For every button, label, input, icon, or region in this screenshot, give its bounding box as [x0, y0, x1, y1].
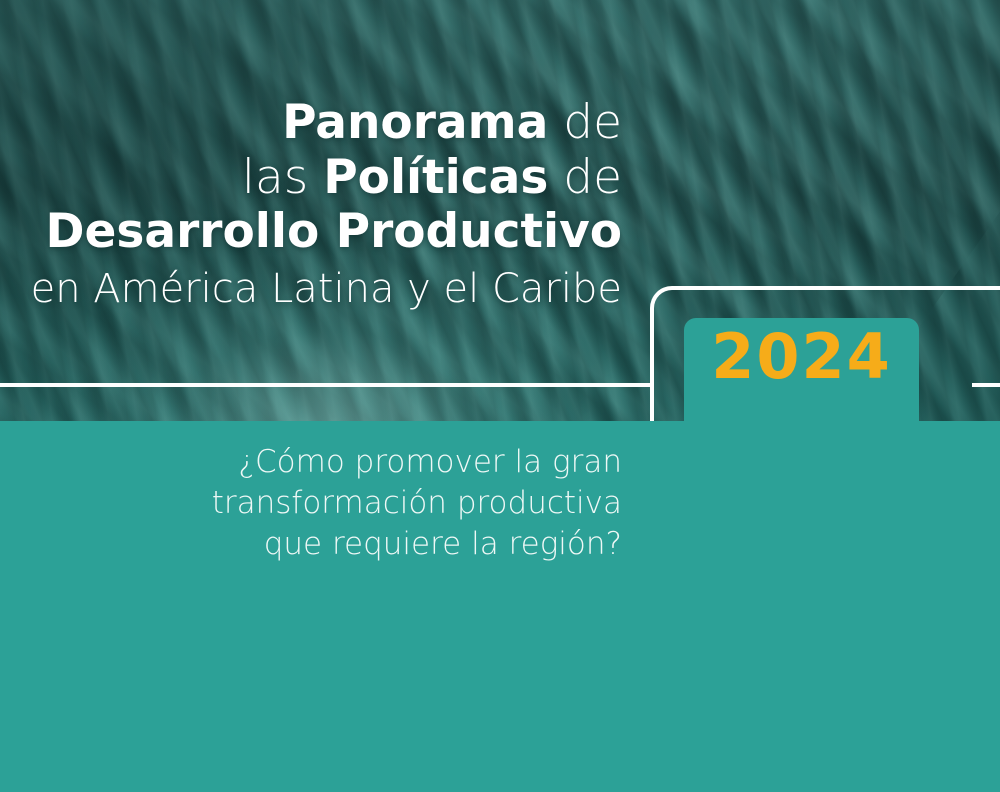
subtitle-line-2: transformación productiva: [0, 483, 622, 524]
cover-subtitle: ¿Cómo promover la gran transformación pr…: [0, 442, 622, 565]
title-line-1-light: de: [563, 95, 622, 150]
title-line-3-bold: Desarrollo Productivo: [46, 204, 622, 259]
title-line-1-bold: Panorama: [282, 95, 548, 150]
title-line-1: Panorama de: [0, 96, 622, 151]
subtitle-line-3: que requiere la región?: [0, 524, 622, 565]
right-edge-rule: [972, 383, 1000, 387]
title-line-2: las Políticas de: [0, 151, 622, 206]
title-underline-rule: [0, 383, 654, 387]
title-line-2-bold: Políticas: [323, 150, 548, 205]
subtitle-line-1: ¿Cómo promover la gran: [0, 442, 622, 483]
year-badge: 2024: [684, 318, 919, 428]
report-cover: 2024 Panorama de las Políticas de Desarr…: [0, 0, 1000, 792]
title-line-2-light: de: [563, 150, 622, 205]
year-badge-label: 2024: [711, 326, 892, 388]
lower-teal-panel: ¿Cómo promover la gran transformación pr…: [0, 421, 1000, 792]
title-line-4: en América Latina y el Caribe: [0, 266, 622, 312]
title-line-3: Desarrollo Productivo: [0, 205, 622, 260]
title-line-2-lead: las: [242, 150, 308, 205]
page-title: Panorama de las Políticas de Desarrollo …: [0, 96, 622, 312]
